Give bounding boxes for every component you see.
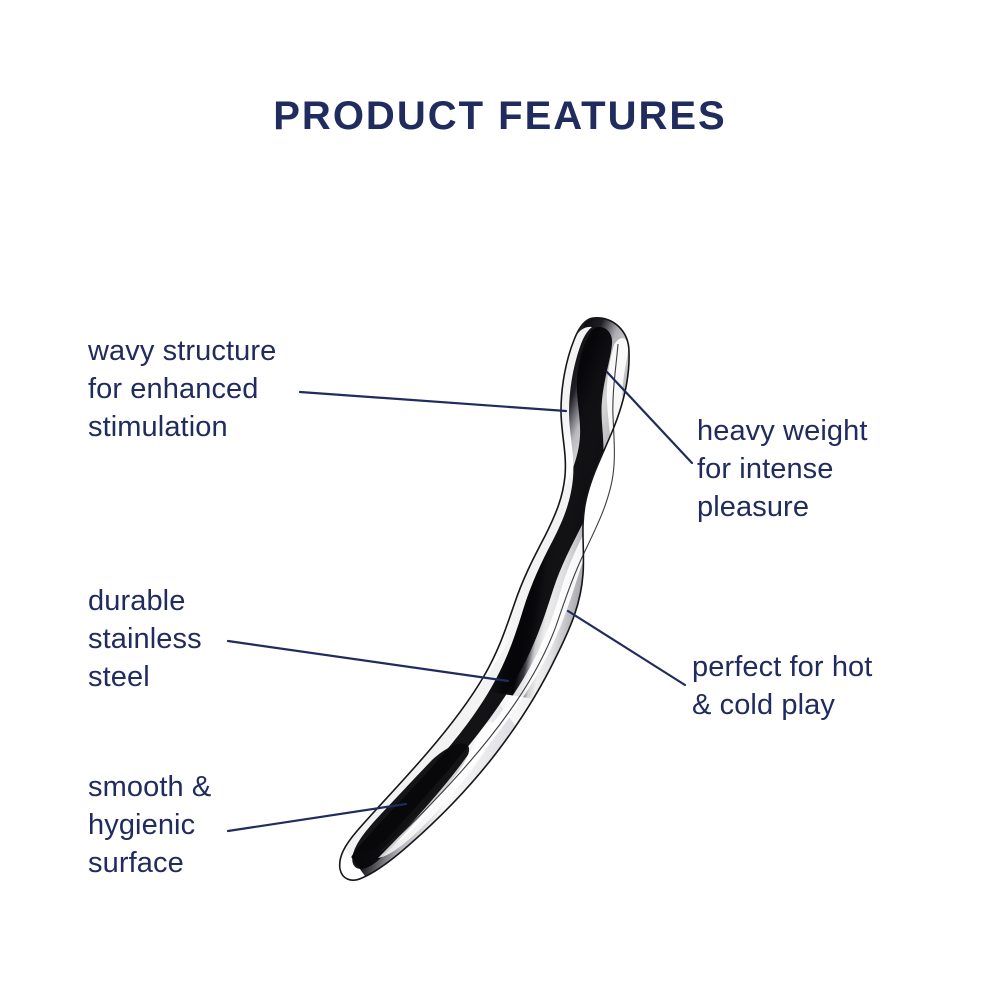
product-features-page: PRODUCT FEATURES [0,0,1000,1000]
callout-heavy-weight: heavy weight for intense pleasure [697,412,947,526]
callout-smooth-hygienic-surface: smooth & hygienic surface [88,768,318,882]
callout-durable-stainless-steel: durable stainless steel [88,582,318,696]
callout-hot-cold-play: perfect for hot & cold play [692,648,952,724]
bulb-shadow [352,744,469,869]
leader-line-heavy-weight [607,372,692,463]
callout-wavy-structure: wavy structure for enhanced stimulation [88,332,348,446]
leader-line-hot-cold-play [568,611,685,685]
